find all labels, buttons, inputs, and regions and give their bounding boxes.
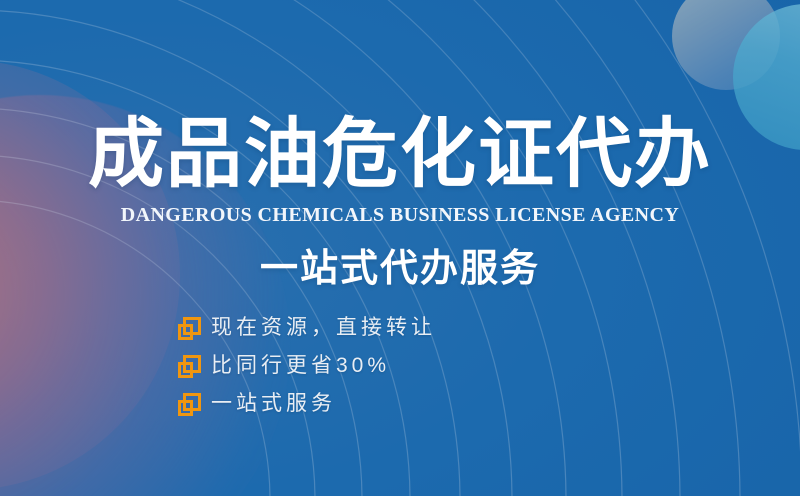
overlapping-squares-icon — [178, 355, 201, 378]
page-title: 成品油危化证代办 — [0, 114, 800, 196]
banner-content: 成品油危化证代办 DANGEROUS CHEMICALS BUSINESS LI… — [0, 0, 800, 496]
list-item-label: 一站式服务 — [211, 392, 336, 416]
english-subtitle: DANGEROUS CHEMICALS BUSINESS LICENSE AGE… — [0, 203, 800, 227]
list-item: 比同行更省30% — [178, 354, 436, 378]
list-item-label: 比同行更省30% — [211, 354, 390, 378]
overlapping-squares-icon — [178, 317, 201, 340]
list-item-label: 现在资源，直接转让 — [211, 316, 436, 340]
list-item: 现在资源，直接转让 — [178, 316, 436, 340]
overlapping-squares-icon — [178, 393, 201, 416]
list-item: 一站式服务 — [178, 392, 436, 416]
service-tagline: 一站式代办服务 — [0, 246, 800, 292]
promotional-banner: 成品油危化证代办 DANGEROUS CHEMICALS BUSINESS LI… — [0, 0, 800, 496]
feature-list: 现在资源，直接转让 比同行更省30% 一站式 — [178, 316, 436, 416]
